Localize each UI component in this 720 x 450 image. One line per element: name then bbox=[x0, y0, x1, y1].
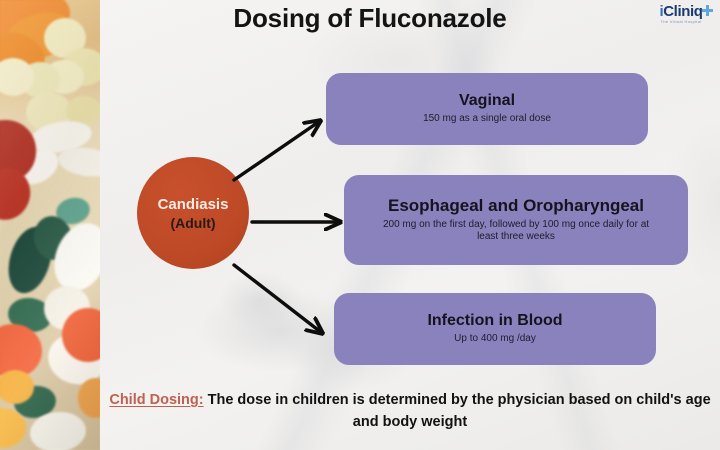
child-dosing-label: Child Dosing: bbox=[109, 392, 203, 408]
dose-box-title: Vaginal bbox=[459, 92, 515, 110]
page-title: Dosing of Fluconazole bbox=[110, 3, 630, 34]
dose-box-infection-in-blood: Infection in Blood Up to 400 mg /day bbox=[334, 293, 656, 365]
infographic-slide: Dosing of Fluconazole iCliniq The Virtua… bbox=[0, 0, 720, 450]
child-dosing-note: Child Dosing: The dose in children is de… bbox=[108, 389, 712, 433]
dose-box-esophageal-oropharyngeal: Esophageal and Oropharyngeal 200 mg on t… bbox=[344, 175, 688, 265]
diagram-node-candiasis: Candiasis (Adult) bbox=[137, 157, 249, 269]
dose-box-vaginal: Vaginal 150 mg as a single oral dose bbox=[326, 73, 648, 145]
child-dosing-text: The dose in children is determined by th… bbox=[204, 392, 711, 430]
pills-photo bbox=[0, 0, 100, 450]
medical-cross-icon bbox=[702, 5, 713, 16]
dose-box-title: Esophageal and Oropharyngeal bbox=[388, 196, 644, 216]
dose-box-detail: Up to 400 mg /day bbox=[454, 333, 536, 346]
node-label-primary: Candiasis bbox=[158, 195, 229, 214]
logo-word-cliniq: Cliniq bbox=[663, 3, 702, 20]
dose-box-detail: 200 mg on the first day, followed by 100… bbox=[381, 219, 651, 244]
dose-box-title: Infection in Blood bbox=[427, 312, 562, 330]
dose-box-detail: 150 mg as a single oral dose bbox=[423, 113, 551, 126]
logo-tagline: The Virtual Hospital bbox=[648, 19, 714, 25]
iCliniq-logo[interactable]: iCliniq The Virtual Hospital bbox=[648, 4, 714, 30]
node-label-secondary: (Adult) bbox=[170, 214, 215, 232]
